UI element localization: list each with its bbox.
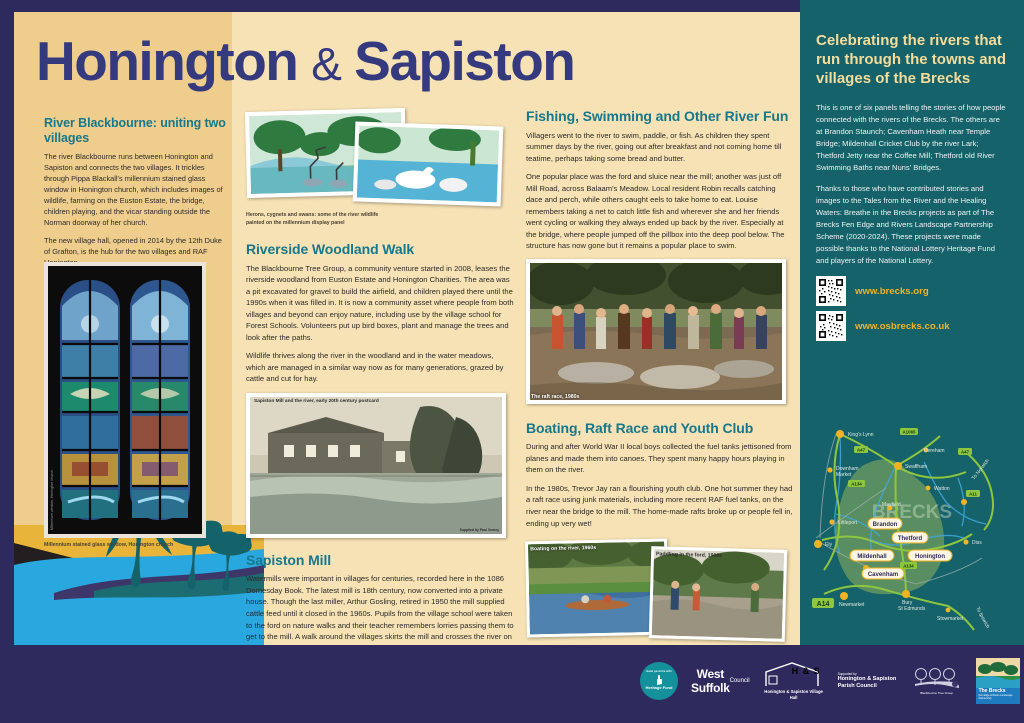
col1-paragraph-1: The river Blackbourne runs between Honin… (44, 151, 230, 229)
heading-riverside-woodland-walk: Riverside Woodland Walk (246, 241, 514, 258)
sponsor-logo-bar: made possible with Heritage Fund West Su… (640, 652, 1010, 710)
raft-race-caption: The raft race, 1980s (531, 394, 579, 400)
west-suffolk-council-label: Council (730, 678, 750, 684)
tree-group-icon (911, 667, 963, 691)
wildlife-photo-group (246, 108, 514, 208)
logo-the-brecks: The Brecks Fen Edge & Rivers Landscape P… (976, 658, 1020, 704)
svg-text:Brandon: Brandon (873, 522, 898, 528)
svg-text:Dereham: Dereham (924, 448, 945, 454)
mill-photo-caption: Sapiston Mill and the river, early 20th … (254, 399, 379, 404)
svg-text:Littleport: Littleport (838, 520, 858, 526)
qr-row-brecks[interactable]: www.brecks.org (816, 276, 1006, 306)
qr-code-brecks-icon[interactable] (816, 276, 846, 306)
title-ampersand: & (311, 38, 340, 90)
col2-s2-paragraph-1: Watermills were important in villages fo… (246, 573, 514, 645)
svg-text:Market: Market (836, 472, 852, 478)
title-word-2: Sapiston (354, 30, 574, 92)
map-label-thetford: Thetford (892, 532, 928, 543)
stained-glass-artwork (48, 266, 202, 534)
right-panel-title: Celebrating the rivers that run through … (816, 32, 1006, 88)
heading-fishing-swimming: Fishing, Swimming and Other River Fun (526, 108, 794, 125)
col3-s2-paragraph-1: During and after World War II local boys… (526, 441, 794, 476)
right-panel-paragraph-1: This is one of six panels telling the st… (816, 102, 1006, 174)
tree-group-name: Blackbourne Tree Group (911, 691, 963, 695)
col2-s1-paragraph-1: The Blackbourne Tree Group, a community … (246, 263, 514, 344)
map-label-cavenham: Cavenham (862, 568, 904, 579)
col2-s1-paragraph-2: Wildlife thrives along the river in the … (246, 350, 514, 385)
column-one: River Blackbourne: uniting two villages … (44, 116, 230, 276)
title-word-1: Honington (36, 30, 297, 92)
map-label-mildenhall: Mildenhall (850, 550, 894, 561)
svg-text:Honington: Honington (915, 554, 945, 560)
svg-text:Mildenhall: Mildenhall (857, 554, 887, 560)
stained-glass-block: Millennium window, Honington church Mill… (44, 262, 206, 548)
link-brecks-org[interactable]: www.brecks.org (855, 286, 929, 297)
logo-village-hall: H & S Honington & Sapiston Village Hall (763, 662, 825, 700)
right-panel-paragraph-2: Thanks to those who have contributed sto… (816, 183, 1006, 267)
interpretation-panel: Honington & Sapiston River Blackbourne: … (0, 0, 1024, 723)
col3-s1-paragraph-1: Villagers went to the river to swim, pad… (526, 130, 794, 165)
svg-text:A1065: A1065 (903, 430, 916, 435)
svg-text:Ely: Ely (825, 542, 832, 548)
boating-photo: Boating on the river, 1960s (525, 539, 669, 638)
svg-text:Swaffham: Swaffham (905, 464, 927, 470)
col3-s1-paragraph-2: One popular place was the ford and sluic… (526, 171, 794, 252)
svg-text:St Edmunds: St Edmunds (898, 606, 926, 612)
logo-blackbourne-tree-group: Blackbourne Tree Group (911, 667, 963, 695)
raft-race-photo: The raft race, 1980s (526, 259, 786, 404)
svg-text:A11: A11 (969, 492, 977, 497)
col3-s2-paragraph-2: In the 1980s, Trevor Jay ran a flourishi… (526, 483, 794, 529)
link-osbrecks-couk[interactable]: www.osbrecks.co.uk (855, 321, 950, 332)
svg-text:A47: A47 (857, 448, 866, 453)
heading-boating-raft-race: Boating, Raft Race and Youth Club (526, 420, 794, 437)
column-two: Herons, cygnets and swans: some of the r… (246, 108, 514, 645)
svg-text:Watton: Watton (934, 486, 950, 492)
svg-text:Mayfield: Mayfield (882, 502, 901, 508)
svg-text:Newmarket: Newmarket (839, 602, 865, 608)
mill-photo-credit: Supplied by Paul Verney (460, 528, 499, 532)
map-label-brandon: Brandon (868, 518, 902, 529)
column-three: Fishing, Swimming and Other River Fun Vi… (526, 108, 794, 641)
heading-river-blackbourne: River Blackbourne: uniting two villages (44, 116, 230, 146)
svg-text:King's Lynn: King's Lynn (848, 432, 874, 438)
qr-code-osbrecks-icon[interactable] (816, 311, 846, 341)
logo-parish-council: Supported by Honington & Sapiston Parish… (838, 672, 898, 690)
page-title: Honington & Sapiston (36, 34, 574, 89)
stained-glass-credit: Millennium window, Honington church (50, 470, 54, 530)
svg-text:A134: A134 (903, 564, 914, 569)
svg-text:Stowmarket: Stowmarket (937, 616, 964, 622)
main-board: Honington & Sapiston River Blackbourne: … (14, 12, 800, 645)
svg-text:A134: A134 (851, 482, 862, 487)
svg-text:Diss: Diss (972, 540, 982, 546)
brecks-location-map: BRECKS (806, 418, 1018, 634)
logo-heritage-fund: made possible with Heritage Fund (640, 662, 678, 700)
west-suffolk-name: West Suffolk (691, 667, 730, 695)
village-hall-initials: H & S (792, 666, 821, 676)
svg-text:A47: A47 (961, 450, 970, 455)
brecks-logo-tagline: Fen Edge & Rivers Landscape Partnership (979, 694, 1017, 700)
heading-sapiston-mill: Sapiston Mill (246, 552, 514, 569)
bottom-photo-group: Boating on the river, 1960s (526, 536, 794, 641)
map-label-honington: Honington (908, 550, 952, 561)
svg-text:Cavenham: Cavenham (868, 572, 898, 578)
svg-text:A14: A14 (817, 601, 830, 608)
brecks-landscape-icon (976, 658, 1020, 688)
qr-row-osbrecks[interactable]: www.osbrecks.co.uk (816, 311, 1006, 341)
stained-glass-caption: Millennium stained glass window, Honingt… (44, 542, 206, 548)
paddling-photo: Paddling in the ford, 1980s (649, 546, 788, 642)
wildlife-photo-swans (353, 121, 504, 206)
mill-postcard-photo: Sapiston Mill and the river, early 20th … (246, 393, 506, 538)
village-hall-name: Honington & Sapiston Village Hall (763, 689, 825, 700)
heritage-fund-label: Heritage Fund (646, 686, 673, 691)
parish-council-name: Honington & Sapiston Parish Council (838, 676, 898, 690)
logo-west-suffolk-council: West Suffolk Council (691, 667, 750, 695)
wildlife-caption: Herons, cygnets and swans: some of the r… (246, 212, 396, 227)
stained-glass-photo: Millennium window, Honington church (44, 262, 206, 538)
svg-text:Thetford: Thetford (898, 536, 923, 542)
